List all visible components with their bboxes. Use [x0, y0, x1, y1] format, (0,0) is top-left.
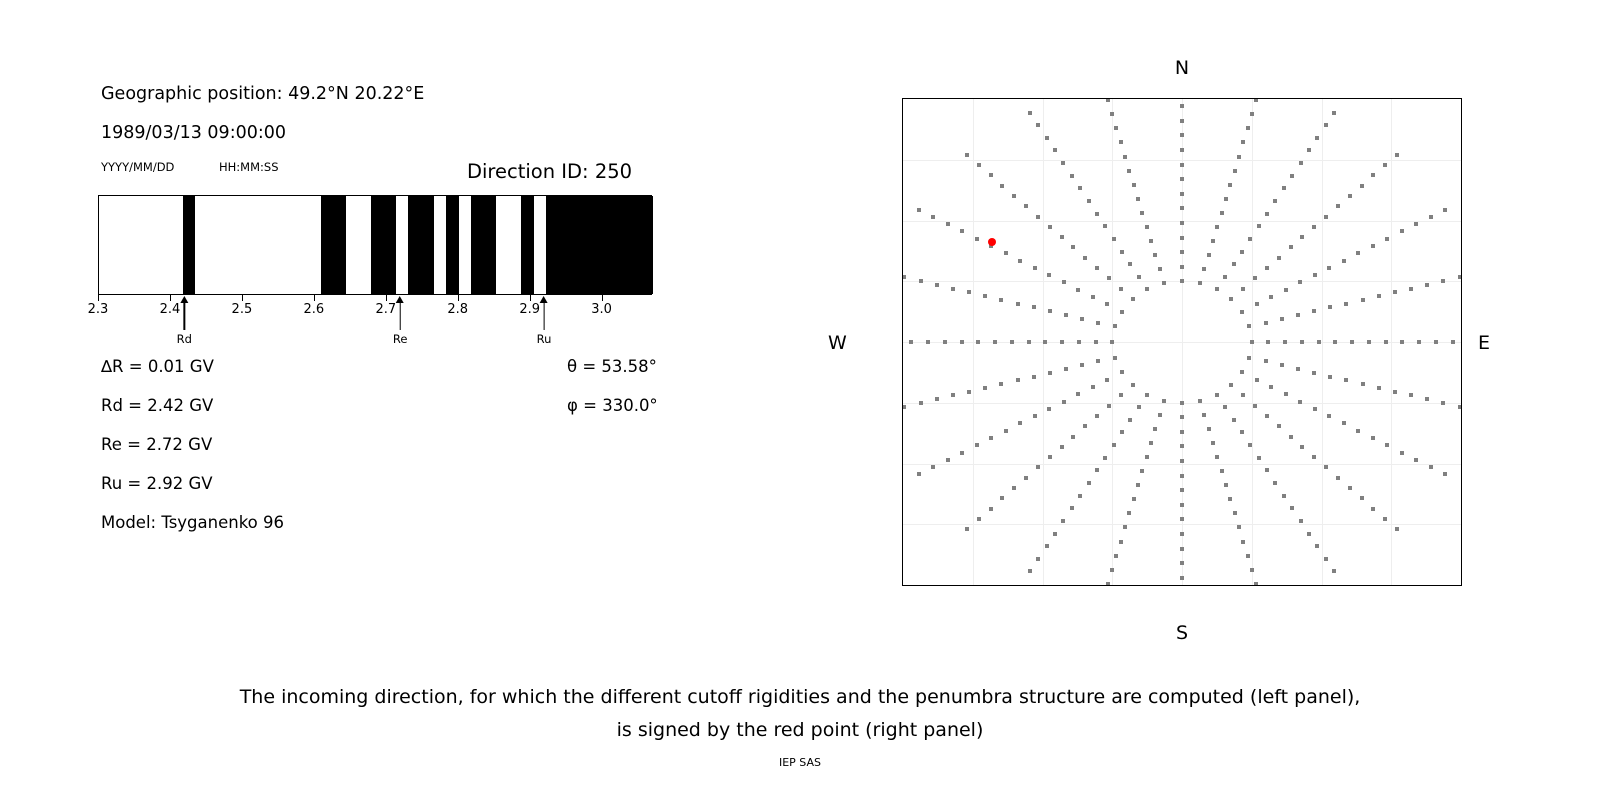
asymptotic-direction-plot: −1.00−0.75−0.50−0.250.000.250.500.751.00…	[902, 98, 1462, 586]
scatter-point	[1336, 204, 1340, 208]
scatter-point	[931, 465, 935, 469]
scatter-point	[1425, 283, 1429, 287]
scatter-point	[1223, 405, 1227, 409]
scatter-point	[1060, 235, 1064, 239]
scatter-point	[1114, 126, 1118, 130]
scatter-y-tick	[902, 403, 903, 404]
scatter-point	[965, 527, 969, 531]
scatter-point	[1296, 367, 1300, 371]
scatter-point	[1248, 237, 1252, 241]
scatter-point	[1207, 253, 1211, 257]
scatter-point	[1312, 225, 1316, 229]
scatter-point	[1409, 393, 1413, 397]
scatter-point	[1269, 385, 1273, 389]
scatter-point	[919, 279, 923, 283]
selected-direction-point[interactable]	[988, 238, 996, 246]
scatter-point	[1414, 458, 1418, 462]
scatter-point	[1257, 224, 1261, 228]
scatter-point	[1198, 399, 1202, 403]
penumbra-band	[521, 196, 533, 294]
scatter-point	[1312, 371, 1316, 375]
scatter-point	[1327, 266, 1331, 270]
scatter-point	[1149, 441, 1153, 445]
scatter-point	[1153, 253, 1157, 257]
parameter-item: Ru = 2.92 GV	[101, 474, 213, 493]
scatter-point	[1060, 340, 1064, 344]
scatter-point	[976, 340, 980, 344]
scatter-point	[946, 458, 950, 462]
penumbra-x-tick	[242, 295, 243, 301]
scatter-point	[1228, 497, 1232, 501]
scatter-point	[1053, 148, 1057, 152]
scatter-point	[1180, 236, 1184, 240]
scatter-point	[1105, 378, 1109, 382]
scatter-point	[1240, 250, 1244, 254]
scatter-point	[917, 208, 921, 212]
scatter-point	[975, 443, 979, 447]
scatter-point	[1315, 544, 1319, 548]
arrow-up-icon	[540, 296, 548, 303]
scatter-point	[1371, 244, 1375, 248]
scatter-point	[1254, 98, 1258, 102]
scatter-point	[1360, 496, 1364, 500]
scatter-point	[1153, 427, 1157, 431]
scatter-point	[1180, 532, 1184, 536]
scatter-point	[1312, 455, 1316, 459]
scatter-point	[1096, 359, 1100, 363]
scatter-point	[1087, 199, 1091, 203]
compass-east-label: E	[1478, 332, 1490, 354]
scatter-point	[1240, 310, 1244, 314]
scatter-point	[1344, 378, 1348, 382]
scatter-point	[1071, 435, 1075, 439]
scatter-point	[965, 153, 969, 157]
scatter-point	[1158, 267, 1162, 271]
geographic-position-text: Geographic position: 49.2°N 20.22°E	[101, 84, 424, 104]
scatter-point	[1180, 503, 1184, 507]
scatter-point	[1241, 540, 1245, 544]
scatter-point	[1215, 287, 1219, 291]
scatter-point	[1180, 444, 1184, 448]
scatter-point	[1016, 302, 1020, 306]
arrow-stem	[543, 303, 545, 330]
scatter-point	[1324, 557, 1328, 561]
scatter-point	[1250, 112, 1254, 116]
scatter-point	[1356, 251, 1360, 255]
scatter-point	[1215, 393, 1219, 397]
scatter-point	[1000, 496, 1004, 500]
scatter-point	[1393, 390, 1397, 394]
scatter-point	[1202, 413, 1206, 417]
penumbra-x-tick-label: 2.5	[232, 302, 253, 317]
scatter-point	[1114, 554, 1118, 558]
scatter-point	[1024, 476, 1028, 480]
scatter-point	[1083, 256, 1087, 260]
scatter-point	[1299, 519, 1303, 523]
scatter-point	[1307, 532, 1311, 536]
scatter-point	[1417, 340, 1421, 344]
scatter-point	[1180, 279, 1184, 283]
scatter-point	[1119, 393, 1123, 397]
parameter-item: Rd = 2.42 GV	[101, 396, 213, 415]
scatter-point	[1112, 443, 1116, 447]
scatter-point	[935, 397, 939, 401]
scatter-point	[1180, 177, 1184, 181]
scatter-point	[1429, 215, 1433, 219]
caption-line-1: The incoming direction, for which the di…	[240, 686, 1361, 708]
scatter-x-tick	[903, 585, 904, 586]
penumbra-x-tick-label: 3.0	[591, 302, 612, 317]
scatter-point	[1300, 445, 1304, 449]
scatter-point	[1053, 532, 1057, 536]
scatter-point	[1180, 192, 1184, 196]
scatter-point	[1202, 267, 1206, 271]
penumbra-x-tick-label: 2.6	[304, 302, 325, 317]
scatter-point	[1264, 359, 1268, 363]
scatter-point	[1289, 245, 1293, 249]
scatter-point	[1180, 459, 1184, 463]
scatter-point	[1280, 363, 1284, 367]
scatter-point	[1313, 407, 1317, 411]
scatter-point	[1062, 280, 1066, 284]
scatter-point	[1237, 155, 1241, 159]
compass-south-label: S	[1176, 622, 1188, 644]
scatter-point	[983, 294, 987, 298]
scatter-point	[1324, 465, 1328, 469]
scatter-point	[1107, 276, 1111, 280]
scatter-point	[1180, 206, 1184, 210]
scatter-y-tick	[902, 524, 903, 525]
scatter-point	[1328, 375, 1332, 379]
scatter-point	[1223, 275, 1227, 279]
scatter-y-tick	[902, 99, 903, 100]
scatter-point	[1107, 404, 1111, 408]
scatter-point	[1105, 302, 1109, 306]
scatter-point	[975, 237, 979, 241]
scatter-point	[1033, 414, 1037, 418]
scatter-point	[1180, 163, 1184, 167]
scatter-x-tick	[1182, 585, 1183, 586]
scatter-point	[1400, 340, 1404, 344]
scatter-point	[1119, 287, 1123, 291]
gridline-horizontal	[903, 524, 1461, 525]
penumbra-x-tick-label: 2.3	[88, 302, 109, 317]
scatter-point	[1361, 382, 1365, 386]
scatter-point	[1180, 561, 1184, 565]
scatter-point	[1140, 211, 1144, 215]
scatter-x-tick	[1252, 585, 1253, 586]
scatter-point	[1211, 441, 1215, 445]
scatter-point	[1071, 245, 1075, 249]
scatter-point	[1393, 290, 1397, 294]
datetime-text: 1989/03/13 09:00:00	[101, 123, 286, 143]
scatter-point	[1145, 287, 1149, 291]
scatter-point	[1246, 554, 1250, 558]
scatter-point	[989, 507, 993, 511]
scatter-point	[1180, 265, 1184, 269]
scatter-x-tick	[1391, 585, 1392, 586]
scatter-y-tick	[902, 160, 903, 161]
scatter-point	[1145, 225, 1149, 229]
scatter-point	[967, 390, 971, 394]
scatter-point	[1095, 266, 1099, 270]
scatter-point	[1028, 569, 1032, 573]
scatter-point	[1076, 392, 1080, 396]
footer-text: IEP SAS	[779, 756, 821, 769]
parameter-item: φ = 330.0°	[567, 396, 658, 415]
scatter-point	[1048, 455, 1052, 459]
penumbra-x-tick	[602, 295, 603, 301]
scatter-x-tick	[1043, 585, 1044, 586]
scatter-point	[1048, 309, 1052, 313]
scatter-point	[1112, 237, 1116, 241]
scatter-point	[1273, 481, 1277, 485]
scatter-point	[1094, 340, 1098, 344]
scatter-point	[1269, 295, 1273, 299]
scatter-point	[1257, 456, 1261, 460]
scatter-point	[1240, 370, 1244, 374]
scatter-point	[999, 382, 1003, 386]
penumbra-band	[546, 196, 653, 294]
scatter-point	[1265, 212, 1269, 216]
scatter-point	[1061, 161, 1065, 165]
scatter-point	[1296, 313, 1300, 317]
scatter-point	[1348, 486, 1352, 490]
scatter-point	[1120, 370, 1124, 374]
scatter-point	[1180, 401, 1184, 405]
scatter-point	[1083, 424, 1087, 428]
scatter-point	[1076, 288, 1080, 292]
parameter-item: θ = 53.58°	[567, 357, 657, 376]
penumbra-band	[471, 196, 496, 294]
scatter-point	[999, 298, 1003, 302]
scatter-point	[951, 287, 955, 291]
penumbra-plot	[98, 195, 652, 295]
penumbra-marker-ru: Ru	[537, 296, 552, 346]
scatter-point	[1264, 321, 1268, 325]
scatter-y-tick	[902, 342, 903, 343]
scatter-point	[1045, 544, 1049, 548]
scatter-point	[1247, 356, 1251, 360]
scatter-point	[1080, 363, 1084, 367]
scatter-point	[931, 215, 935, 219]
scatter-point	[1091, 295, 1095, 299]
gridline-horizontal	[903, 342, 1461, 343]
scatter-point	[1028, 111, 1032, 115]
scatter-point	[1220, 469, 1224, 473]
scatter-point	[1441, 401, 1445, 405]
scatter-point	[1371, 507, 1375, 511]
scatter-point	[1371, 173, 1375, 177]
scatter-point	[1110, 112, 1114, 116]
scatter-point	[1255, 378, 1259, 382]
scatter-point	[1215, 455, 1219, 459]
scatter-point	[902, 405, 906, 409]
scatter-point	[1300, 235, 1304, 239]
scatter-point	[1036, 215, 1040, 219]
scatter-point	[1145, 393, 1149, 397]
scatter-point	[1162, 281, 1166, 285]
scatter-point	[1127, 169, 1131, 173]
penumbra-x-tick	[458, 295, 459, 301]
scatter-point	[1317, 340, 1321, 344]
scatter-point	[960, 229, 964, 233]
scatter-point	[1106, 582, 1110, 586]
scatter-point	[1145, 455, 1149, 459]
scatter-point	[1137, 405, 1141, 409]
scatter-point	[1180, 430, 1184, 434]
scatter-point	[1220, 211, 1224, 215]
scatter-point	[1080, 317, 1084, 321]
scatter-point	[967, 290, 971, 294]
scatter-point	[1048, 225, 1052, 229]
scatter-point	[1280, 317, 1284, 321]
scatter-point	[1299, 161, 1303, 165]
arrow-up-icon	[180, 296, 188, 303]
scatter-x-tick	[973, 585, 974, 586]
scatter-point	[1383, 517, 1387, 521]
scatter-x-tick	[1112, 585, 1113, 586]
scatter-point	[1095, 212, 1099, 216]
penumbra-x-tick	[314, 295, 315, 301]
scatter-point	[1328, 305, 1332, 309]
scatter-point	[1228, 183, 1232, 187]
scatter-point	[1113, 356, 1117, 360]
scatter-point	[1385, 443, 1389, 447]
scatter-point	[926, 340, 930, 344]
scatter-point	[1070, 174, 1074, 178]
penumbra-x-tick-label: 2.8	[447, 302, 468, 317]
scatter-point	[1127, 511, 1131, 515]
compass-north-label: N	[1175, 57, 1189, 79]
scatter-point	[1149, 239, 1153, 243]
scatter-point	[1064, 367, 1068, 371]
scatter-point	[1000, 184, 1004, 188]
scatter-point	[1229, 383, 1233, 387]
scatter-point	[1047, 407, 1051, 411]
scatter-point	[989, 173, 993, 177]
scatter-point	[1004, 251, 1008, 255]
scatter-point	[1377, 386, 1381, 390]
scatter-point	[1045, 136, 1049, 140]
scatter-point	[1027, 340, 1031, 344]
arrow-up-icon	[396, 296, 404, 303]
penumbra-marker-re: Re	[393, 296, 408, 346]
scatter-point	[1033, 266, 1037, 270]
scatter-point	[1290, 506, 1294, 510]
arrow-stem	[399, 303, 401, 330]
scatter-point	[1300, 340, 1304, 344]
scatter-point	[1265, 414, 1269, 418]
scatter-point	[1132, 497, 1136, 501]
scatter-point	[1110, 568, 1114, 572]
left-panel: Geographic position: 49.2°N 20.22°E 1989…	[0, 0, 800, 800]
scatter-point	[1377, 294, 1381, 298]
scatter-point	[1004, 429, 1008, 433]
scatter-point	[1414, 222, 1418, 226]
scatter-point	[1254, 582, 1258, 586]
scatter-point	[1091, 385, 1095, 389]
scatter-point	[1247, 324, 1251, 328]
scatter-point	[1043, 340, 1047, 344]
scatter-point	[1180, 488, 1184, 492]
scatter-point	[1315, 136, 1319, 140]
scatter-point	[1237, 525, 1241, 529]
scatter-point	[1047, 273, 1051, 277]
scatter-point	[1078, 494, 1082, 498]
scatter-point	[1253, 276, 1257, 280]
scatter-point	[1096, 321, 1100, 325]
scatter-point	[1384, 340, 1388, 344]
scatter-point	[1241, 393, 1245, 397]
scatter-x-tick	[1322, 585, 1323, 586]
scatter-point	[1012, 486, 1016, 490]
scatter-point	[1240, 430, 1244, 434]
scatter-point	[1103, 224, 1107, 228]
scatter-point	[1180, 221, 1184, 225]
scatter-point	[1064, 313, 1068, 317]
scatter-y-tick	[902, 585, 903, 586]
scatter-point	[1332, 111, 1336, 115]
scatter-point	[1233, 169, 1237, 173]
scatter-point	[1095, 468, 1099, 472]
scatter-point	[1123, 525, 1127, 529]
scatter-point	[960, 340, 964, 344]
scatter-point	[1024, 204, 1028, 208]
scatter-point	[1128, 262, 1132, 266]
scatter-point	[1336, 476, 1340, 480]
scatter-point	[1348, 194, 1352, 198]
scatter-point	[1250, 568, 1254, 572]
scatter-point	[1333, 340, 1337, 344]
scatter-point	[1383, 163, 1387, 167]
scatter-point	[1131, 297, 1135, 301]
scatter-point	[1180, 104, 1184, 108]
scatter-point	[1131, 383, 1135, 387]
scatter-point	[1248, 443, 1252, 447]
scatter-point	[977, 517, 981, 521]
penumbra-marker-label: Re	[393, 332, 408, 346]
scatter-point	[1342, 259, 1346, 263]
penumbra-x-tick	[386, 295, 387, 301]
scatter-y-tick	[902, 464, 903, 465]
scatter-point	[1207, 427, 1211, 431]
scatter-point	[977, 163, 981, 167]
gridline-horizontal	[903, 160, 1461, 161]
scatter-point	[1282, 494, 1286, 498]
scatter-point	[1443, 208, 1447, 212]
scatter-point	[1078, 186, 1082, 190]
penumbra-band	[321, 196, 346, 294]
scatter-point	[1232, 418, 1236, 422]
scatter-point	[1283, 340, 1287, 344]
arrow-stem	[184, 303, 186, 330]
scatter-point	[1395, 527, 1399, 531]
scatter-y-tick	[902, 221, 903, 222]
scatter-point	[993, 340, 997, 344]
scatter-point	[1277, 256, 1281, 260]
scatter-point	[1313, 273, 1317, 277]
scatter-point	[951, 393, 955, 397]
scatter-point	[1180, 576, 1184, 580]
scatter-point	[1048, 371, 1052, 375]
scatter-point	[1119, 540, 1123, 544]
scatter-point	[917, 472, 921, 476]
scatter-point	[1060, 445, 1064, 449]
scatter-point	[960, 451, 964, 455]
scatter-point	[1136, 483, 1140, 487]
direction-id-text: Direction ID: 250	[467, 160, 632, 183]
